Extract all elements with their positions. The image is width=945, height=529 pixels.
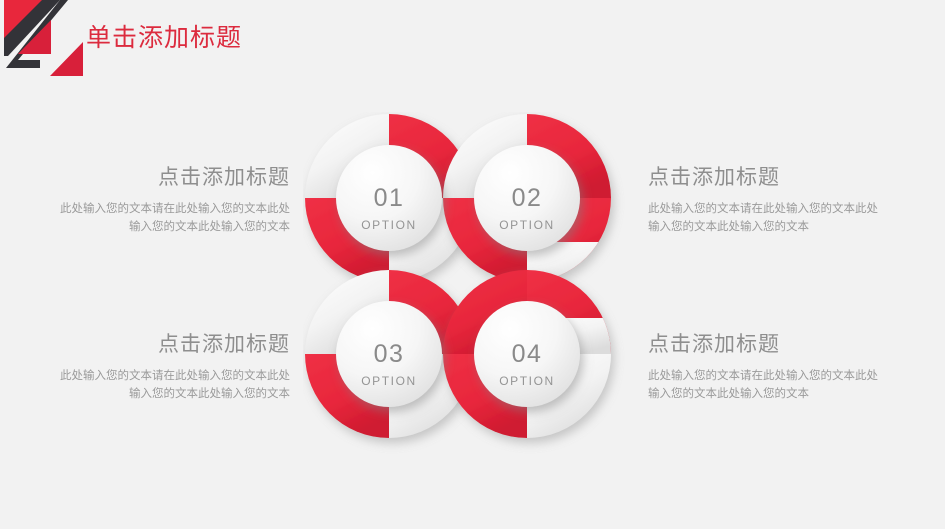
text-block-4-body: 此处输入您的文本请在此处输入您的文本此处输入您的文本此处输入您的文本 (648, 367, 888, 403)
ring-01-caption: OPTION (361, 218, 417, 232)
ring-01-number: 01 (374, 184, 405, 212)
ring-02-center[interactable]: 02 OPTION (474, 145, 580, 251)
slide-header: 单击添加标题 (0, 0, 945, 90)
ring-03-caption: OPTION (361, 374, 417, 388)
text-block-3-body: 此处输入您的文本请在此处输入您的文本此处输入您的文本此处输入您的文本 (50, 367, 290, 403)
page-title: 单击添加标题 (86, 21, 242, 55)
four-ring-infographic: 01 OPTION 02 OPTION 03 OPTION 04 OPTION (303, 112, 643, 467)
text-block-1-title: 点击添加标题 (50, 163, 290, 193)
ring-03-number: 03 (374, 340, 405, 368)
ring-02-caption: OPTION (499, 218, 555, 232)
ring-01-center[interactable]: 01 OPTION (336, 145, 442, 251)
ring-04-caption: OPTION (499, 374, 555, 388)
ring-04-center[interactable]: 04 OPTION (474, 301, 580, 407)
text-block-3-title: 点击添加标题 (50, 330, 290, 360)
ring-04-number: 04 (512, 340, 543, 368)
text-block-1-body: 此处输入您的文本请在此处输入您的文本此处输入您的文本此处输入您的文本 (50, 200, 290, 236)
text-block-2-body: 此处输入您的文本请在此处输入您的文本此处输入您的文本此处输入您的文本 (648, 200, 888, 236)
text-block-4: 点击添加标题 此处输入您的文本请在此处输入您的文本此处输入您的文本此处输入您的文… (648, 330, 888, 403)
text-block-2: 点击添加标题 此处输入您的文本请在此处输入您的文本此处输入您的文本此处输入您的文… (648, 163, 888, 236)
text-block-4-title: 点击添加标题 (648, 330, 888, 360)
ring-02-number: 02 (512, 184, 543, 212)
text-block-3: 点击添加标题 此处输入您的文本请在此处输入您的文本此处输入您的文本此处输入您的文… (50, 330, 290, 403)
ring-03-center[interactable]: 03 OPTION (336, 301, 442, 407)
slide-canvas: { "header": { "title": "单击添加标题", "logo_i… (0, 0, 945, 529)
text-block-1: 点击添加标题 此处输入您的文本请在此处输入您的文本此处输入您的文本此处输入您的文… (50, 163, 290, 236)
triangle-logo-mark (4, 0, 90, 86)
text-block-2-title: 点击添加标题 (648, 163, 888, 193)
